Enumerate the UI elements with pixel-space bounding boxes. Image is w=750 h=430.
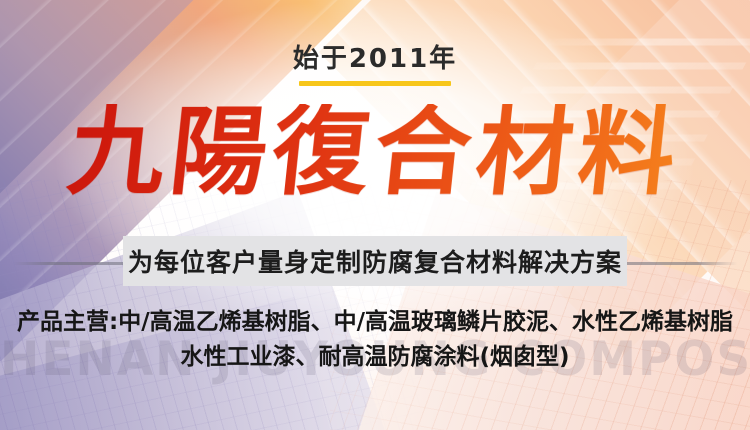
promo-banner: HENAN JIUYOUNG COMPOSITE 始于2011年 九陽復合材料 …: [0, 0, 750, 430]
subtitle-rule-right: [625, 262, 737, 265]
brand-title: 九陽復合材料: [0, 104, 750, 200]
eyebrow-text: 始于2011年: [0, 38, 750, 75]
eyebrow-underline-rule: [299, 81, 451, 86]
product-description-line-1: 产品主营:中/高温乙烯基树脂、中/高温玻璃鳞片胶泥、水性乙烯基树脂: [0, 305, 750, 340]
banner-content: 始于2011年 九陽復合材料 为每位客户量身定制防腐复合材料解决方案 产品主营:…: [0, 0, 750, 430]
subtitle-text: 为每位客户量身定制防腐复合材料解决方案: [123, 236, 627, 286]
product-description-line-2: 水性工业漆、耐高温防腐涂料(烟囱型): [0, 340, 750, 375]
product-description: 产品主营:中/高温乙烯基树脂、中/高温玻璃鳞片胶泥、水性乙烯基树脂 水性工业漆、…: [0, 305, 750, 375]
subtitle-rule-left: [13, 262, 125, 265]
